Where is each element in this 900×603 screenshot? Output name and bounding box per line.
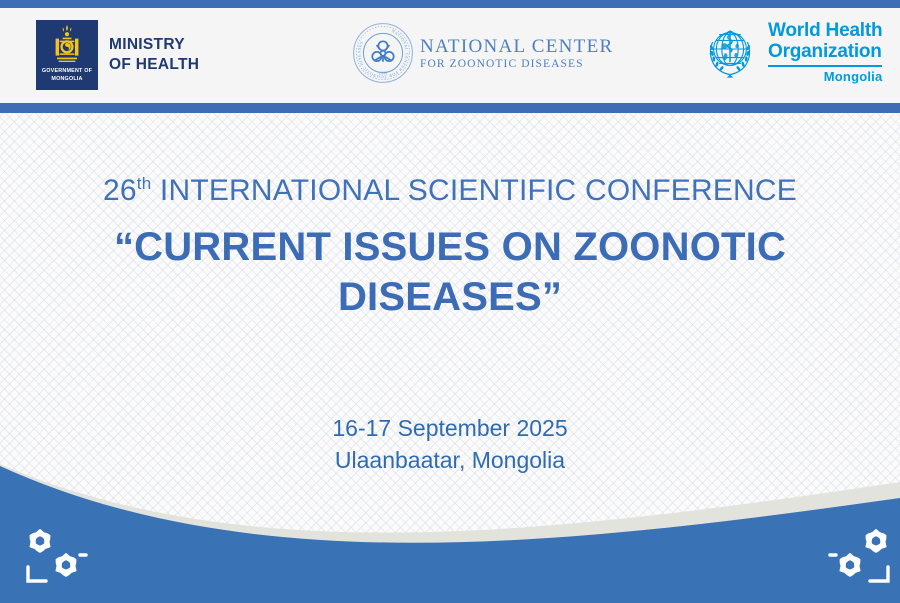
crest-line-1: GOVERNMENT OF [36,68,98,74]
event-meta-block: 16-17 September 2025 Ulaanbaatar, Mongol… [0,412,900,476]
conference-title-slide: GOVERNMENT OF MONGOLIA MINISTRY OF HEALT… [0,0,900,603]
crest-line-2: MONGOLIA [36,76,98,82]
conference-theme: “CURRENT ISSUES ON ZOONOTIC DISEASES” [0,222,900,322]
event-location: Ulaanbaatar, Mongolia [0,444,900,476]
national-center-name: NATIONAL CENTER FOR ZOONOTIC DISEASES [420,36,613,71]
ministry-name-line-1: MINISTRY [109,35,199,55]
ministry-of-health-logo: GOVERNMENT OF MONGOLIA MINISTRY OF HEALT… [36,20,199,90]
conference-theme-line-2: DISEASES” [0,272,900,322]
conference-ordinal: 26 [103,174,137,207]
national-center-name-line-2: FOR ZOONOTIC DISEASES [420,57,613,71]
header-accent-bar [0,103,900,113]
seal-year-text: 1931 [379,70,388,75]
who-mongolia-logo: World Health Organization Mongolia [700,20,882,84]
mongolian-ulzii-knot-ornament-icon-left [16,521,98,587]
mongolian-ulzii-knot-ornament-icon-right [818,521,900,587]
who-name: World Health Organization Mongolia [768,20,882,84]
national-center-name-line-1: NATIONAL CENTER [420,36,613,57]
who-country-label: Mongolia [768,69,882,84]
top-accent-bar [0,0,900,8]
ministry-of-health-name: MINISTRY OF HEALTH [109,35,199,75]
conference-ordinal-line: 26th INTERNATIONAL SCIENTIFIC CONFERENCE [0,172,900,210]
who-divider [768,65,882,67]
title-block: 26th INTERNATIONAL SCIENTIFIC CONFERENCE… [0,172,900,322]
biohazard-seal-icon: NATIONAL CENTER FOR ZOONOTIC DISEASES 19… [352,22,414,84]
mongolia-soyombo-emblem-icon [50,24,84,68]
who-name-line-1: World Health [768,20,882,41]
event-dates: 16-17 September 2025 [0,412,900,444]
government-of-mongolia-crest: GOVERNMENT OF MONGOLIA [36,20,98,90]
national-center-zoonotic-diseases-logo: NATIONAL CENTER FOR ZOONOTIC DISEASES 19… [352,22,613,84]
conference-ordinal-suffix: th [137,174,152,193]
who-globe-asclepius-emblem-icon [700,22,760,82]
conference-label: INTERNATIONAL SCIENTIFIC CONFERENCE [160,174,797,207]
conference-theme-line-1: “CURRENT ISSUES ON ZOONOTIC [0,222,900,272]
ministry-name-line-2: OF HEALTH [109,55,199,75]
who-name-line-2: Organization [768,41,882,62]
